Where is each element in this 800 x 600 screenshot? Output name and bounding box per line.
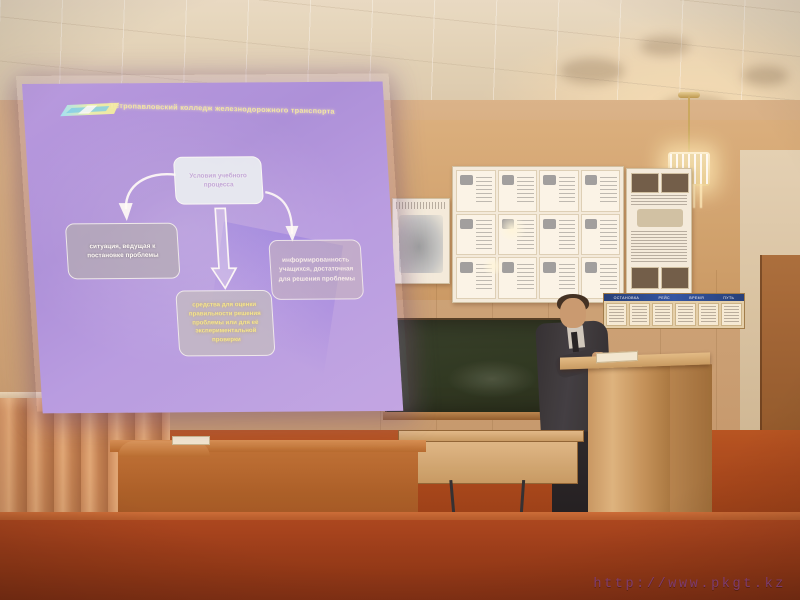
slide-node-left: ситуация, ведущая к постановке проблемы	[65, 223, 181, 280]
slide-node-bottom: средства для оценки правильности решения…	[175, 290, 275, 357]
notice-header-item: ОСТАНОВКА	[614, 296, 640, 300]
site-watermark: http://www.pkgt.kz	[593, 577, 786, 592]
stage-papers	[172, 436, 210, 445]
notice-sheet	[629, 303, 650, 326]
notice-header-item: ВРЕМЯ	[689, 296, 704, 300]
photo-scene: ОСТАНОВКА РЕЙС ВРЕМЯ ПУТЬ	[0, 0, 800, 600]
notice-sheet	[675, 303, 696, 326]
notice-board-sheets	[606, 303, 742, 326]
notice-sheet	[606, 303, 627, 326]
notice-sheet	[698, 303, 719, 326]
poster-center-large	[452, 166, 624, 303]
ceiling-light-shadow	[640, 36, 690, 56]
chandelier-rod	[688, 96, 690, 158]
arrow-top-to-right-icon	[261, 186, 311, 246]
poster-right	[626, 168, 692, 302]
chalk-smudge	[447, 360, 537, 398]
ceiling-light-shadow	[560, 58, 624, 84]
speaker-head	[560, 298, 586, 328]
notice-board-header: ОСТАНОВКА РЕЙС ВРЕМЯ ПУТЬ	[604, 294, 744, 301]
ceiling-light-shadow	[742, 66, 788, 86]
classroom-desk	[404, 436, 578, 484]
slide-node-right: информированность учащихся, достаточная …	[268, 239, 364, 300]
notice-header-item: РЕЙС	[658, 296, 670, 300]
notice-sheet	[721, 303, 742, 326]
notice-sheet	[652, 303, 673, 326]
side-door[interactable]	[760, 255, 800, 445]
notice-header-item: ПУТЬ	[723, 296, 734, 300]
arrow-top-to-bottom-icon	[206, 206, 239, 292]
slide-node-top: Условия учебного процесса	[173, 156, 264, 205]
projection-screen[interactable]: Петропавловский колледж железнодорожного…	[22, 81, 403, 413]
notice-board: ОСТАНОВКА РЕЙС ВРЕМЯ ПУТЬ	[603, 293, 745, 329]
